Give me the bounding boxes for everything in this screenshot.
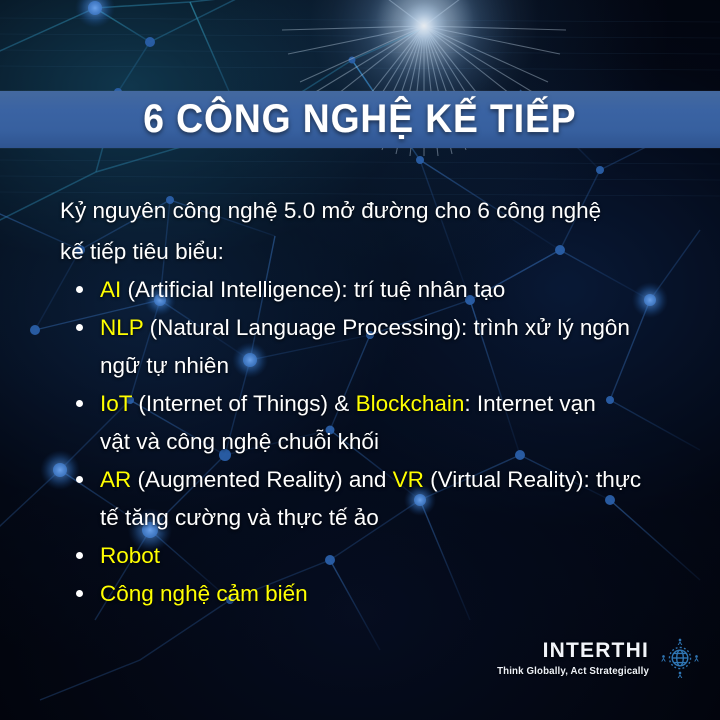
intro-line-1: Kỷ nguyên công nghệ 5.0 mở đường cho 6 c… [60,198,601,223]
intro-paragraph: Kỷ nguyên công nghệ 5.0 mở đường cho 6 c… [60,190,666,272]
brand-logo: INTERTHI Think Globally, Act Strategical… [497,636,702,680]
intro-line-2: kế tiếp tiêu biểu: [60,231,666,272]
list-item-robot: Robot [60,537,672,575]
list-item-sensor: Công nghệ cảm biến [60,575,672,613]
highlight-robot: Robot [100,543,160,568]
brand-name: INTERTHI [497,640,649,661]
highlight-ar: AR [100,467,131,492]
list-item-iot-blockchain: IoT (Internet of Things) & Blockchain: I… [60,385,672,461]
highlight-nlp: NLP [100,315,143,340]
list-item-ar-mid: (Augmented Reality) and [131,467,392,492]
technology-list: AI (Artificial Intelligence): trí tuệ nh… [60,271,672,613]
bullet-dot-icon [76,552,83,559]
list-item-ar-text: (Virtual Reality): thực [424,467,641,492]
list-item-iot-text-line2: vật và công nghệ chuỗi khối [100,423,672,461]
list-item-nlp-text: (Natural Language Processing): trình xử … [143,315,630,340]
list-item-iot-mid: (Internet of Things) & [132,391,355,416]
highlight-ai: AI [100,277,121,302]
brand-logo-text: INTERTHI Think Globally, Act Strategical… [497,640,649,677]
bullet-dot-icon [76,476,83,483]
list-item-nlp: NLP (Natural Language Processing): trình… [60,309,672,385]
page-title: 6 CÔNG NGHỆ KẾ TIẾP [143,99,576,141]
list-item-ai: AI (Artificial Intelligence): trí tuệ nh… [60,271,672,309]
brand-tagline: Think Globally, Act Strategically [497,667,649,677]
globe-network-icon [658,636,702,680]
list-item-iot-text: : Internet vạn [464,391,595,416]
title-banner: 6 CÔNG NGHỆ KẾ TIẾP [0,91,720,148]
list-item-nlp-text-line2: ngữ tự nhiên [100,347,672,385]
bullet-dot-icon [76,324,83,331]
list-item-ar-text-line2: tế tăng cường và thực tế ảo [100,499,672,537]
bullet-dot-icon [76,286,83,293]
list-item-ar-vr: AR (Augmented Reality) and VR (Virtual R… [60,461,672,537]
bullet-dot-icon [76,590,83,597]
slide-root: 6 CÔNG NGHỆ KẾ TIẾP Kỷ nguyên công nghệ … [0,0,720,720]
list-item-ai-text: (Artificial Intelligence): trí tuệ nhân … [121,277,505,302]
slide-content: Kỷ nguyên công nghệ 5.0 mở đường cho 6 c… [0,148,720,608]
highlight-vr: VR [393,467,424,492]
highlight-sensor: Công nghệ cảm biến [100,581,308,606]
highlight-blockchain: Blockchain [356,391,465,416]
bullet-dot-icon [76,400,83,407]
highlight-iot: IoT [100,391,132,416]
